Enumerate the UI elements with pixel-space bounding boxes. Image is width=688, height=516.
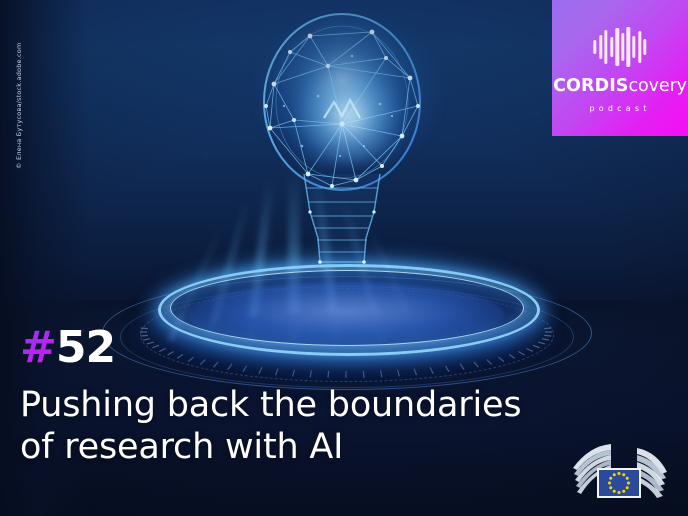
title-line-1: Pushing back the boundaries [20,384,550,426]
waveform-bar [593,40,596,54]
eu-star [618,472,621,475]
logo-wordmark: CORDIScovery [552,78,688,96]
eu-star [626,486,629,489]
eu-star [618,491,621,494]
image-credit: © Елена Бутусова/stock.adobe.com [15,9,23,169]
logo-subtitle: podcast [552,104,688,113]
waveform-bar [632,36,635,58]
episode-hash: # [20,322,56,373]
eu-star [613,490,616,493]
waveform-bar [616,28,619,66]
waveform-bar [610,37,613,57]
eu-star [608,482,611,485]
eu-star [613,473,616,476]
episode-digits: 52 [56,322,115,373]
podcast-cover-image: © Елена Бутусова/stock.adobe.com CORDISc… [0,0,688,516]
logo-brand-light: covery [629,76,687,96]
eu-star [622,473,625,476]
waveform-bar [621,33,624,61]
eu-star [609,486,612,489]
eu-star [622,490,625,493]
ec-right-stripes [637,448,667,498]
logo-brand-bold: CORDIS [553,76,628,96]
title-line-2: of research with AI [20,426,550,468]
episode-title: Pushing back the boundaries of research … [20,384,550,468]
audio-waveform-icon [593,26,646,68]
european-commission-logo [571,438,671,500]
eu-star [609,477,612,480]
eu-flag-icon [597,468,641,498]
waveform-bar [638,31,641,63]
waveform-bar [644,39,647,55]
episode-number: #52 [20,326,115,370]
eu-star [627,482,630,485]
cordiscovery-logo[interactable]: CORDIScovery podcast [552,0,688,136]
eu-star [626,477,629,480]
waveform-bar [599,35,602,59]
waveform-bar [604,30,607,64]
waveform-bar [627,27,630,67]
